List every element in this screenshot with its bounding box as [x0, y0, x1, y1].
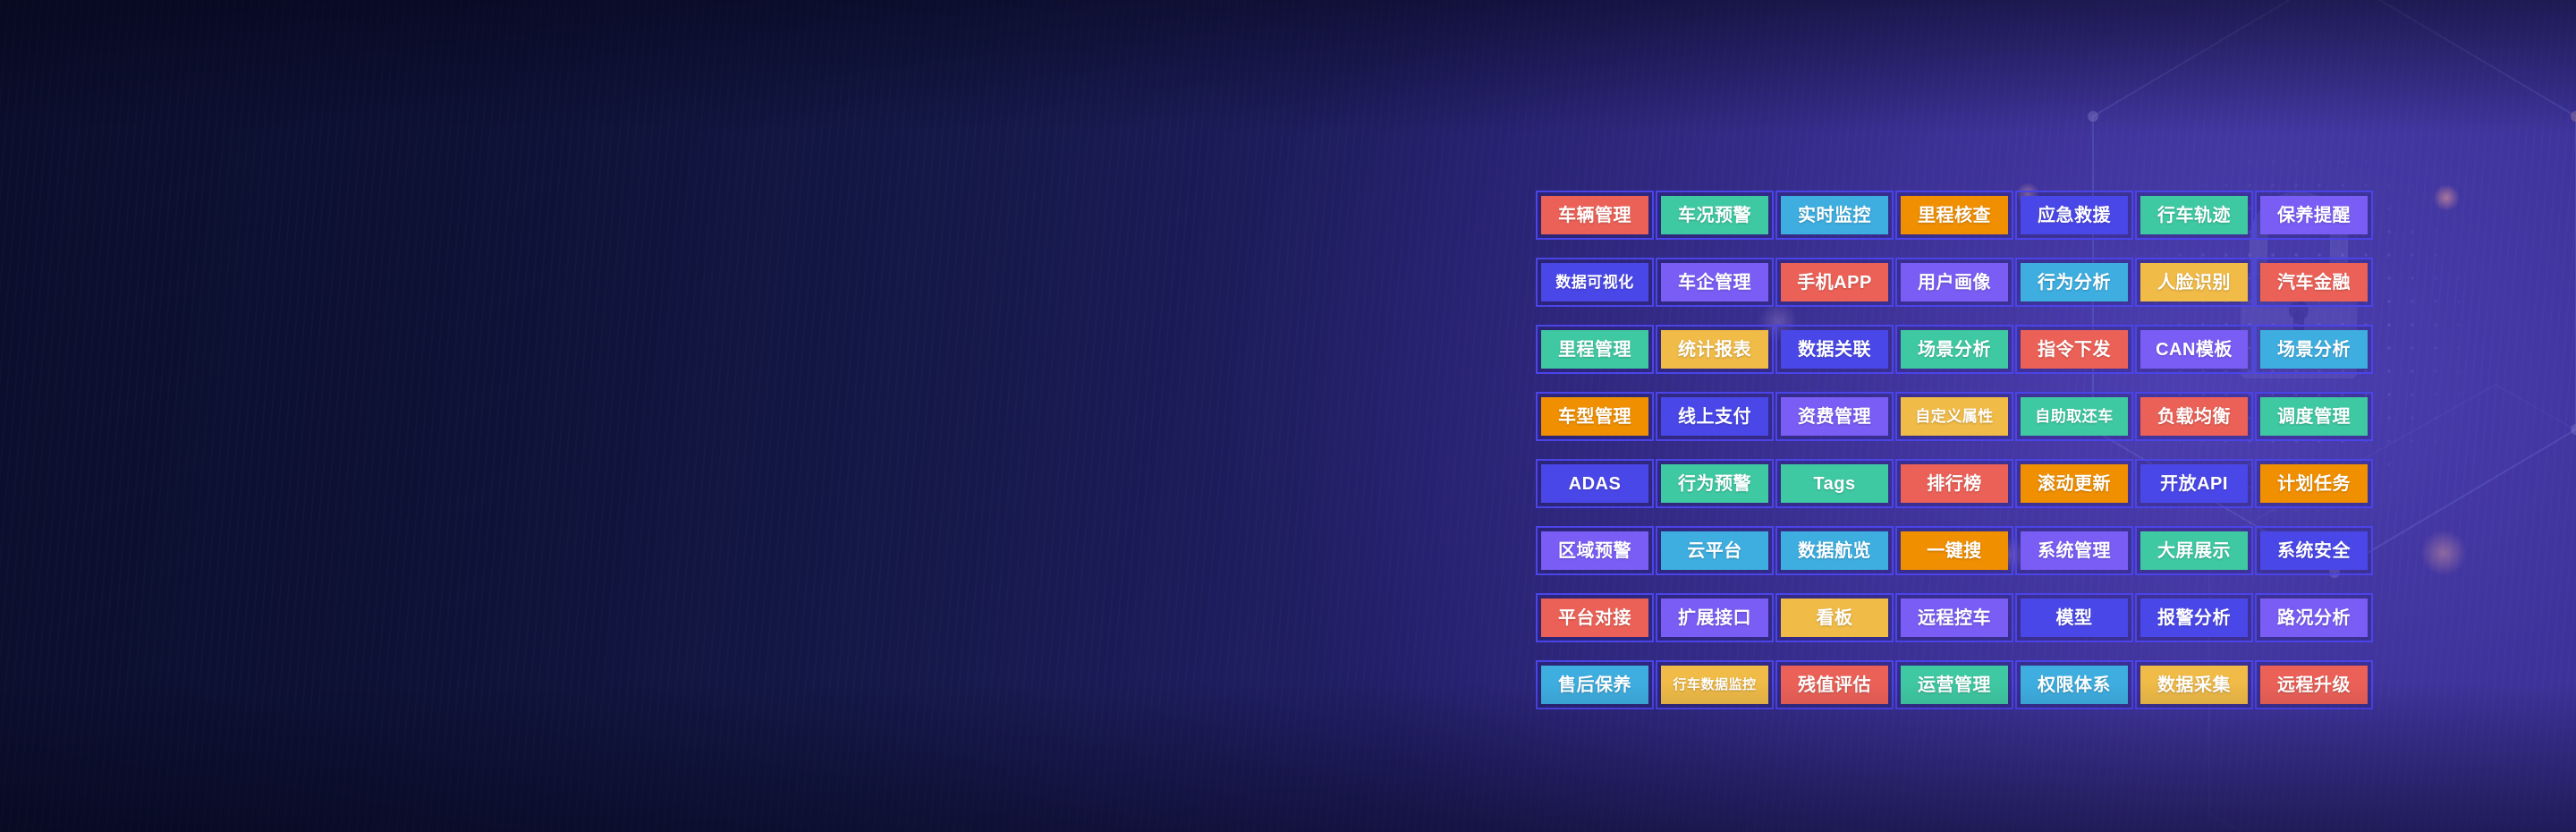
feature-tile[interactable]: 排行榜	[1895, 459, 2013, 508]
feature-tile[interactable]: 远程升级	[2255, 660, 2373, 709]
feature-tile[interactable]: 指令下发	[2015, 325, 2133, 374]
feature-tile-label: 平台对接	[1541, 599, 1648, 637]
feature-tile[interactable]: 区域预警	[1536, 526, 1654, 575]
feature-tile[interactable]: 看板	[1775, 593, 1894, 642]
feature-tile[interactable]: 手机APP	[1775, 258, 1894, 307]
feature-tile-label: 排行榜	[1901, 464, 2008, 503]
feature-tile[interactable]: 行为分析	[2015, 258, 2133, 307]
feature-tile-label: 统计报表	[1661, 330, 1768, 369]
feature-tile-label: 运营管理	[1901, 666, 2008, 704]
feature-tile-label: 远程控车	[1901, 599, 2008, 637]
feature-tile[interactable]: 数据航览	[1775, 526, 1894, 575]
feature-tile[interactable]: Tags	[1775, 459, 1894, 508]
feature-tile-label: 负载均衡	[2140, 397, 2248, 436]
feature-tile-label: 资费管理	[1781, 397, 1888, 436]
feature-tile[interactable]: 滚动更新	[2015, 459, 2133, 508]
feature-tile-label: ADAS	[1541, 464, 1648, 503]
feature-tile-label: 滚动更新	[2021, 464, 2128, 503]
feature-tile-label: 大屏展示	[2140, 531, 2248, 570]
feature-tile-label: 车况预警	[1661, 196, 1768, 234]
feature-tile-label: 里程核查	[1901, 196, 2008, 234]
feature-tile-label: 模型	[2021, 599, 2128, 637]
feature-tile-label: 里程管理	[1541, 330, 1648, 369]
feature-tile-label: 系统安全	[2260, 531, 2368, 570]
feature-tile[interactable]: 系统管理	[2015, 526, 2133, 575]
feature-tile[interactable]: 资费管理	[1775, 392, 1894, 441]
feature-tile[interactable]: 车辆管理	[1536, 191, 1654, 240]
feature-tile[interactable]: 云平台	[1656, 526, 1774, 575]
feature-tile[interactable]: 行车轨迹	[2135, 191, 2253, 240]
feature-tile-label: 保养提醒	[2260, 196, 2368, 234]
feature-tile-label: 车企管理	[1661, 263, 1768, 301]
feature-tile[interactable]: 运营管理	[1895, 660, 2013, 709]
feature-tile[interactable]: 汽车金融	[2255, 258, 2373, 307]
feature-tile[interactable]: 统计报表	[1656, 325, 1774, 374]
feature-tile-label: 报警分析	[2140, 599, 2248, 637]
feature-tile-label: 场景分析	[2260, 330, 2368, 369]
feature-tile[interactable]: 车况预警	[1656, 191, 1774, 240]
feature-tile[interactable]: 应急救援	[2015, 191, 2133, 240]
feature-tile-label: 手机APP	[1781, 263, 1888, 301]
feature-tile-label: 系统管理	[2021, 531, 2128, 570]
feature-tile[interactable]: 行为预警	[1656, 459, 1774, 508]
feature-tile-label: 自定义属性	[1901, 397, 2008, 436]
feature-tile[interactable]: 负载均衡	[2135, 392, 2253, 441]
feature-tile[interactable]: 人脸识别	[2135, 258, 2253, 307]
feature-tile[interactable]: 大屏展示	[2135, 526, 2253, 575]
feature-tile-label: 计划任务	[2260, 464, 2368, 503]
feature-tile[interactable]: 行车数据监控	[1656, 660, 1774, 709]
feature-tile[interactable]: 自助取还车	[2015, 392, 2133, 441]
feature-tile-label: 一键搜	[1901, 531, 2008, 570]
feature-tile[interactable]: 线上支付	[1656, 392, 1774, 441]
feature-tile-label: 行为预警	[1661, 464, 1768, 503]
feature-tile[interactable]: 模型	[2015, 593, 2133, 642]
feature-tile-label: 车型管理	[1541, 397, 1648, 436]
feature-tile[interactable]: 系统安全	[2255, 526, 2373, 575]
feature-tile-label: CAN模板	[2140, 330, 2248, 369]
feature-tile[interactable]: 数据采集	[2135, 660, 2253, 709]
feature-tile[interactable]: 里程核查	[1895, 191, 2013, 240]
feature-tile[interactable]: 自定义属性	[1895, 392, 2013, 441]
feature-tile-label: 行车轨迹	[2140, 196, 2248, 234]
feature-tile[interactable]: 报警分析	[2135, 593, 2253, 642]
feature-tile-label: 自助取还车	[2021, 397, 2128, 436]
feature-tile[interactable]: 一键搜	[1895, 526, 2013, 575]
feature-tile[interactable]: 数据关联	[1775, 325, 1894, 374]
feature-tile-label: 云平台	[1661, 531, 1768, 570]
feature-tile[interactable]: 开放API	[2135, 459, 2253, 508]
feature-tile-label: Tags	[1781, 464, 1888, 503]
feature-tile-grid: 车辆管理车况预警实时监控里程核查应急救援行车轨迹保养提醒数据可视化车企管理手机A…	[1536, 191, 2373, 709]
feature-tile-label: 调度管理	[2260, 397, 2368, 436]
feature-tile[interactable]: 场景分析	[2255, 325, 2373, 374]
feature-tile[interactable]: 车企管理	[1656, 258, 1774, 307]
feature-tile-label: 数据可视化	[1541, 263, 1648, 301]
feature-tile-label: 售后保养	[1541, 666, 1648, 704]
feature-tile[interactable]: ADAS	[1536, 459, 1654, 508]
feature-tile[interactable]: 平台对接	[1536, 593, 1654, 642]
feature-tile[interactable]: 售后保养	[1536, 660, 1654, 709]
feature-tile-label: 汽车金融	[2260, 263, 2368, 301]
feature-tile-label: 数据关联	[1781, 330, 1888, 369]
feature-tile-label: 人脸识别	[2140, 263, 2248, 301]
glow-dot-a	[2433, 184, 2460, 211]
feature-tile-label: 远程升级	[2260, 666, 2368, 704]
feature-tile[interactable]: 数据可视化	[1536, 258, 1654, 307]
feature-tile-label: 看板	[1781, 599, 1888, 637]
feature-tile-label: 应急救援	[2021, 196, 2128, 234]
feature-tile-label: 区域预警	[1541, 531, 1648, 570]
feature-tile[interactable]: 调度管理	[2255, 392, 2373, 441]
feature-tile-label: 权限体系	[2021, 666, 2128, 704]
feature-tile-label: 指令下发	[2021, 330, 2128, 369]
feature-tile[interactable]: 扩展接口	[1656, 593, 1774, 642]
feature-tile[interactable]: 权限体系	[2015, 660, 2133, 709]
feature-tile[interactable]: 车型管理	[1536, 392, 1654, 441]
feature-tile[interactable]: 场景分析	[1895, 325, 2013, 374]
page-stage: 车辆管理车况预警实时监控里程核查应急救援行车轨迹保养提醒数据可视化车企管理手机A…	[0, 0, 2576, 832]
feature-tile[interactable]: 路况分析	[2255, 593, 2373, 642]
feature-tile-label: 行为分析	[2021, 263, 2128, 301]
feature-tile-label: 车辆管理	[1541, 196, 1648, 234]
feature-tile-label: 行车数据监控	[1661, 666, 1768, 704]
feature-tile-label: 线上支付	[1661, 397, 1768, 436]
feature-tile[interactable]: 远程控车	[1895, 593, 2013, 642]
feature-tile[interactable]: 实时监控	[1775, 191, 1894, 240]
feature-tile[interactable]: 保养提醒	[2255, 191, 2373, 240]
feature-tile[interactable]: 用户画像	[1895, 258, 2013, 307]
feature-tile[interactable]: 计划任务	[2255, 459, 2373, 508]
feature-tile-label: 残值评估	[1781, 666, 1888, 704]
feature-tile-label: 用户画像	[1901, 263, 2008, 301]
feature-tile[interactable]: 里程管理	[1536, 325, 1654, 374]
feature-tile-label: 开放API	[2140, 464, 2248, 503]
feature-tile-label: 数据航览	[1781, 531, 1888, 570]
feature-tile-label: 场景分析	[1901, 330, 2008, 369]
feature-tile-label: 数据采集	[2140, 666, 2248, 704]
feature-tile-label: 路况分析	[2260, 599, 2368, 637]
feature-tile[interactable]: 残值评估	[1775, 660, 1894, 709]
glow-dot-c	[2420, 530, 2467, 576]
feature-tile-label: 实时监控	[1781, 196, 1888, 234]
feature-tile-label: 扩展接口	[1661, 599, 1768, 637]
feature-tile[interactable]: CAN模板	[2135, 325, 2253, 374]
